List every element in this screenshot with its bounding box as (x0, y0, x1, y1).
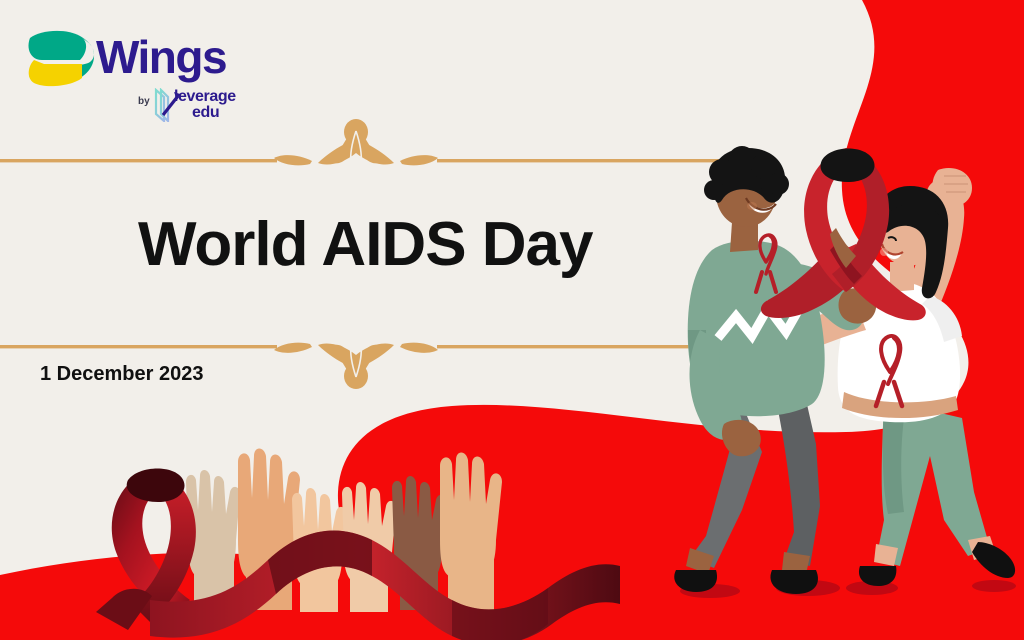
raised-hand (440, 453, 502, 613)
hands-solidarity-band (0, 0, 1024, 640)
poster-canvas: Wings by leverage edu (0, 0, 1024, 640)
